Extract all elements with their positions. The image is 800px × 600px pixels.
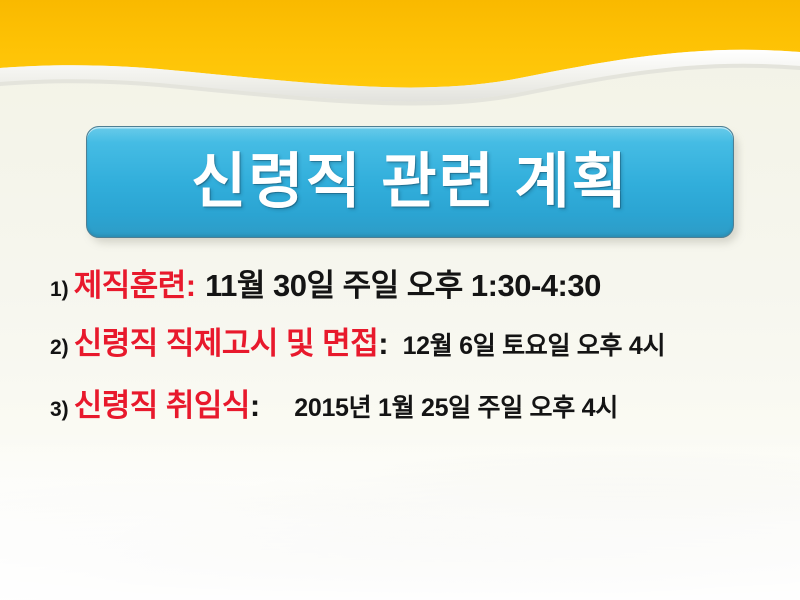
list-item-number: 1)	[50, 279, 69, 300]
list-item-number: 3)	[50, 399, 69, 420]
header-wave-banner	[0, 0, 800, 120]
background-fade-overlay	[0, 430, 800, 600]
presentation-slide: 신령직 관련 계획 1) 제직훈련 : 11월 30일 주일 오후 1:30-4…	[0, 0, 800, 600]
list-item-topic: 신령직 취임식	[74, 390, 250, 421]
page-title: 신령직 관련 계획	[191, 152, 629, 212]
list-item: 3) 신령직 취임식 : 2015년 1월 25일 주일 오후 4시	[50, 390, 760, 448]
list-item-detail: 12월 6일 토요일 오후 4시	[403, 334, 666, 359]
list-item-detail: 2015년 1월 25일 주일 오후 4시	[294, 396, 618, 421]
list-item-colon: :	[378, 328, 388, 359]
list-item: 1) 제직훈련 : 11월 30일 주일 오후 1:30-4:30	[50, 270, 760, 328]
list-item-topic: 제직훈련	[74, 270, 186, 301]
list-item-topic: 신령직 직제고시 및 면접	[74, 328, 379, 359]
bullet-list: 1) 제직훈련 : 11월 30일 주일 오후 1:30-4:30 2) 신령직…	[50, 270, 760, 448]
list-item: 2) 신령직 직제고시 및 면접 : 12월 6일 토요일 오후 4시	[50, 328, 760, 390]
list-item-colon: :	[250, 390, 260, 421]
title-plaque: 신령직 관련 계획	[86, 126, 734, 238]
list-item-colon: :	[186, 270, 196, 301]
list-item-number: 2)	[50, 337, 69, 358]
list-item-detail: 11월 30일 주일 오후 1:30-4:30	[205, 270, 601, 301]
